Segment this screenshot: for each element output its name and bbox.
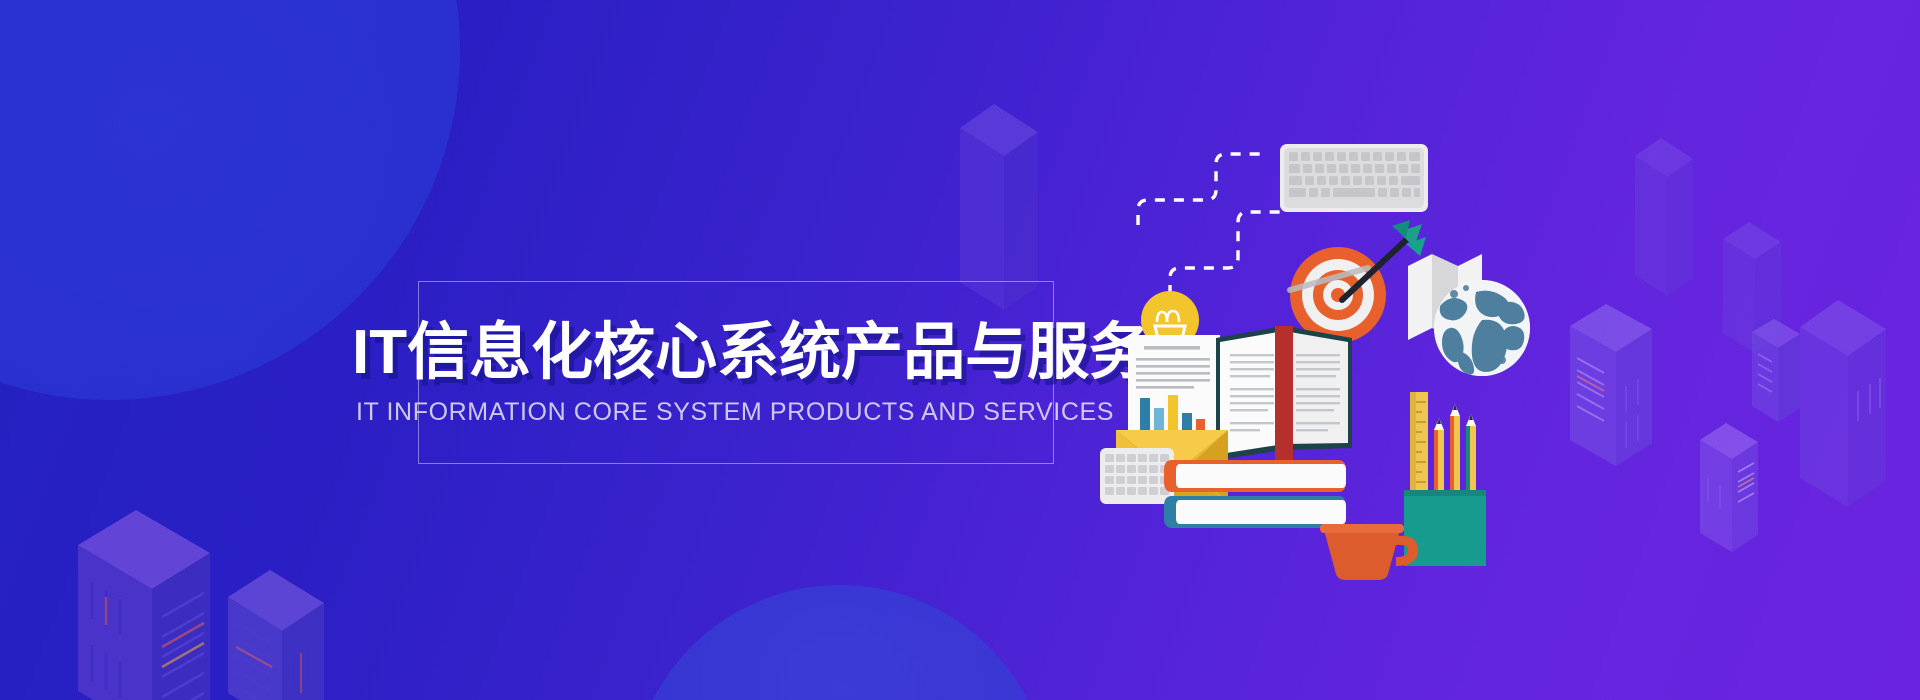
isometric-building-right-d bbox=[1800, 295, 1890, 525]
isometric-building-right-e bbox=[1570, 300, 1656, 480]
circle-bottom-center bbox=[630, 585, 1050, 700]
ruler-icon bbox=[1410, 392, 1428, 502]
hero-illustration bbox=[1110, 130, 1570, 580]
coffee-cup-icon bbox=[1320, 524, 1418, 580]
page-subtitle: IT INFORMATION CORE SYSTEM PRODUCTS AND … bbox=[356, 400, 1114, 425]
globe-icon bbox=[1434, 280, 1530, 376]
dashed-connector-path bbox=[1138, 154, 1280, 295]
page-title: IT信息化核心系统产品与服务 bbox=[352, 322, 1151, 384]
isometric-building-right-c bbox=[1752, 316, 1804, 436]
hero-banner: IT信息化核心系统产品与服务 IT INFORMATION CORE SYSTE… bbox=[0, 0, 1920, 700]
pencils-icon bbox=[1434, 404, 1476, 502]
isometric-building-left-short bbox=[228, 565, 338, 700]
keyboard-bottom-icon bbox=[1100, 448, 1174, 504]
isometric-building-right-f bbox=[1700, 420, 1762, 570]
isometric-building-left-tall bbox=[78, 505, 228, 700]
open-book-icon bbox=[1216, 326, 1352, 478]
target-arrow-icon bbox=[1290, 220, 1426, 343]
isometric-building-right-a bbox=[1635, 134, 1697, 314]
keyboard-top-icon bbox=[1280, 144, 1428, 212]
